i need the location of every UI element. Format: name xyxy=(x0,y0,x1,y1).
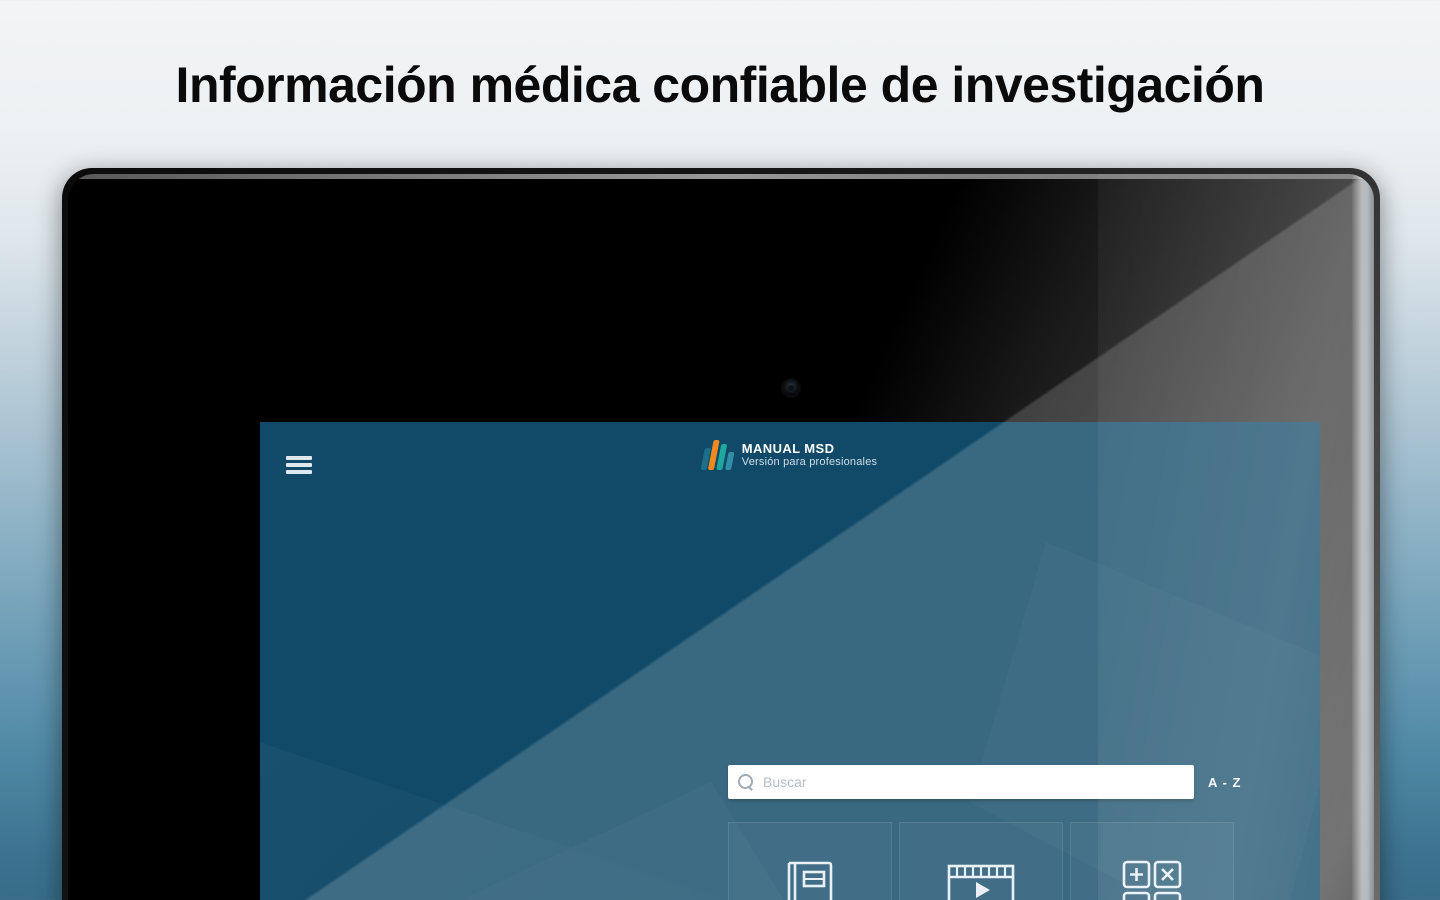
book-icon xyxy=(781,853,839,900)
bezel-top-highlight xyxy=(78,174,1364,179)
logo-subtitle: Versión para profesionales xyxy=(742,456,877,468)
app-logo: MANUAL MSD Versión para profesionales xyxy=(703,438,877,472)
search-icon xyxy=(738,774,754,790)
tile-row-1: Temas médicos Vídeos xyxy=(728,822,1236,900)
tablet-device: MANUAL MSD Versión para profesionales Bu… xyxy=(62,168,1380,900)
hamburger-icon[interactable] xyxy=(286,456,312,474)
front-camera-lens-icon xyxy=(788,385,794,391)
tile-videos[interactable]: Vídeos xyxy=(899,822,1063,900)
tablet-bezel: MANUAL MSD Versión para profesionales Bu… xyxy=(68,174,1374,900)
tile-calculadoras-clinicas[interactable]: Calculadoras clínicas xyxy=(1070,822,1234,900)
film-play-icon xyxy=(947,853,1015,900)
page-title: Información médica confiable de investig… xyxy=(0,56,1440,114)
manual-msd-logo-mark-icon xyxy=(703,438,733,472)
calculator-icon xyxy=(1122,853,1182,900)
search-row: Buscar A - Z xyxy=(728,765,1241,799)
search-input[interactable]: Buscar xyxy=(728,765,1194,799)
logo-title: MANUAL MSD xyxy=(742,442,877,457)
search-placeholder: Buscar xyxy=(763,774,807,790)
tile-grid: Temas médicos Vídeos xyxy=(728,822,1236,900)
az-index-button[interactable]: A - Z xyxy=(1208,775,1241,790)
bezel-edge-highlight xyxy=(1352,174,1374,900)
app-screen: MANUAL MSD Versión para profesionales Bu… xyxy=(260,422,1320,900)
app-header: MANUAL MSD Versión para profesionales xyxy=(260,422,1320,510)
tile-temas-medicos[interactable]: Temas médicos xyxy=(728,822,892,900)
